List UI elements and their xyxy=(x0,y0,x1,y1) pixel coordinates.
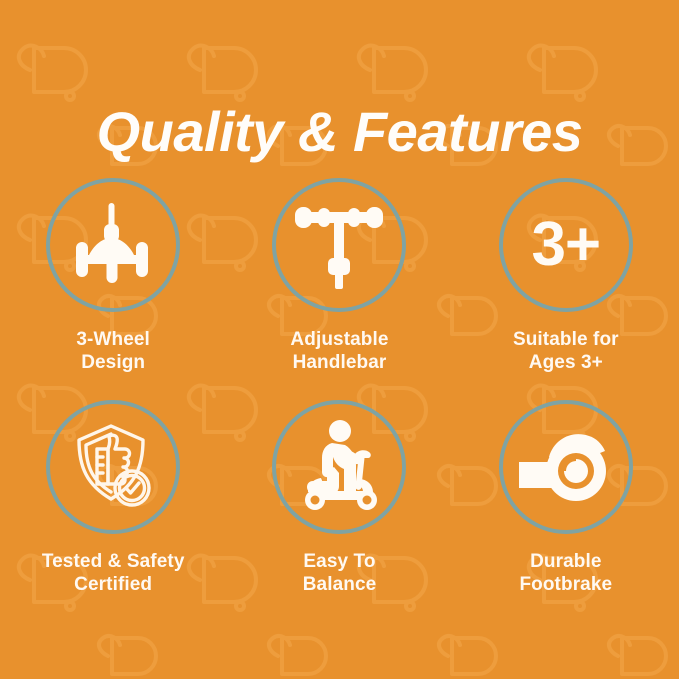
handlebar-icon xyxy=(290,196,388,294)
infographic-canvas: Quality & Features xyxy=(0,0,679,679)
icon-circle: 3+ xyxy=(499,178,633,312)
shield-thumbs-up-check-icon xyxy=(65,419,161,515)
icon-circle xyxy=(499,400,633,534)
icon-circle xyxy=(272,400,406,534)
page-title: Quality & Features xyxy=(0,100,679,164)
feature-label: Durable Footbrake xyxy=(519,550,612,596)
feature-card-durable-footbrake[interactable]: Durable Footbrake xyxy=(453,400,679,622)
feature-card-suitable-for-ages[interactable]: 3+ Suitable for Ages 3+ xyxy=(453,178,679,400)
feature-card-adjustable-handlebar[interactable]: Adjustable Handlebar xyxy=(226,178,452,400)
feature-label: 3-Wheel Design xyxy=(76,328,150,374)
age-badge-icon: 3+ xyxy=(531,214,600,276)
feature-label: Suitable for Ages 3+ xyxy=(513,328,619,374)
feature-card-tested-safety-certified[interactable]: Tested & Safety Certified xyxy=(0,400,226,622)
feature-label: Easy To Balance xyxy=(303,550,377,596)
footbrake-wheel-icon xyxy=(516,417,616,517)
feature-card-three-wheel-design[interactable]: 3-Wheel Design xyxy=(0,178,226,400)
feature-label: Tested & Safety Certified xyxy=(42,550,185,596)
rider-on-scooter-icon xyxy=(289,417,389,517)
three-wheel-scooter-icon xyxy=(65,197,161,293)
feature-label: Adjustable Handlebar xyxy=(290,328,388,374)
icon-circle xyxy=(46,178,180,312)
icon-circle xyxy=(272,178,406,312)
feature-card-easy-to-balance[interactable]: Easy To Balance xyxy=(226,400,452,622)
icon-circle xyxy=(46,400,180,534)
feature-grid: 3-Wheel Design xyxy=(0,178,679,622)
